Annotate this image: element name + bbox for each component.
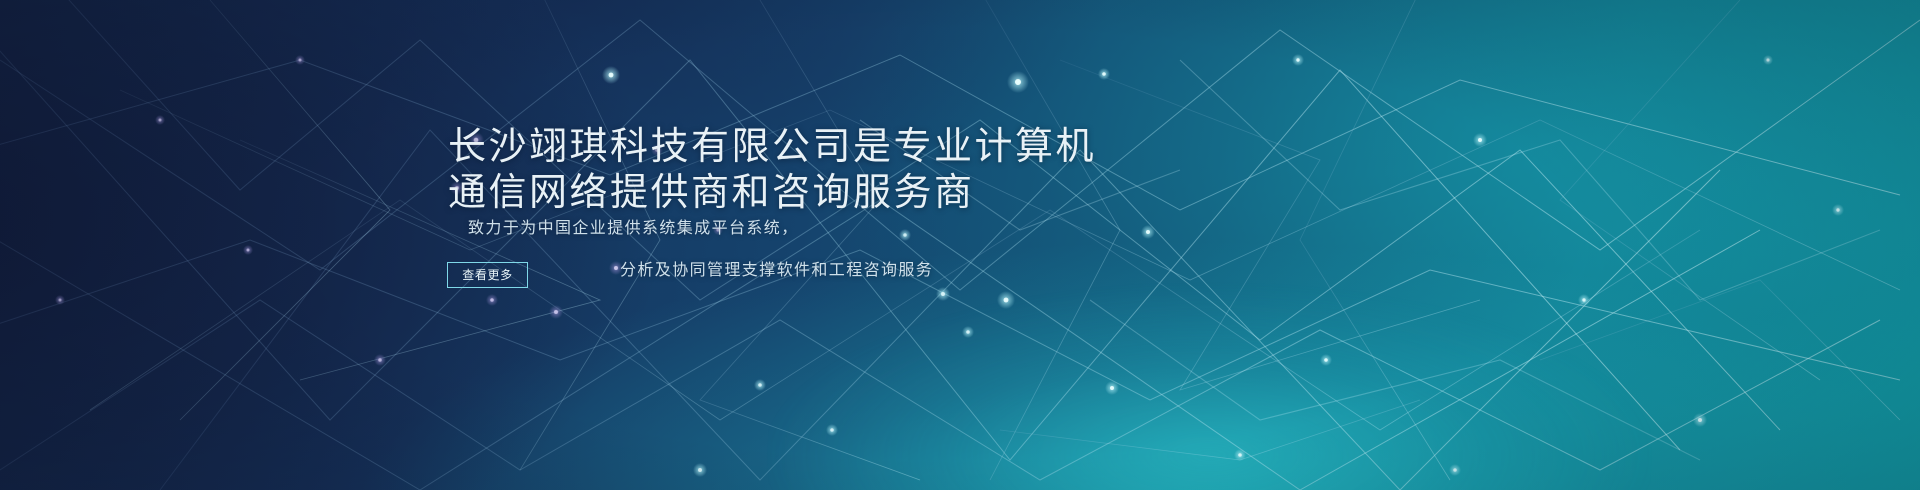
view-more-button[interactable]: 查看更多 <box>447 262 528 288</box>
subtitle-line-1: 致力于为中国企业提供系统集成平台系统， <box>468 214 799 238</box>
banner-content: 长沙翊琪科技有限公司是专业计算机 通信网络提供商和咨询服务商 致力于为中国企业提… <box>0 0 1920 490</box>
subtitle-line-2: 分析及协同管理支撑软件和工程咨询服务 <box>620 256 933 280</box>
hero-banner: 长沙翊琪科技有限公司是专业计算机 通信网络提供商和咨询服务商 致力于为中国企业提… <box>0 0 1920 490</box>
headline-line-2: 通信网络提供商和咨询服务商 <box>448 170 1096 216</box>
headline-line-1: 长沙翊琪科技有限公司是专业计算机 <box>448 126 1096 168</box>
page-title: 长沙翊琪科技有限公司是专业计算机 通信网络提供商和咨询服务商 <box>448 124 1096 216</box>
